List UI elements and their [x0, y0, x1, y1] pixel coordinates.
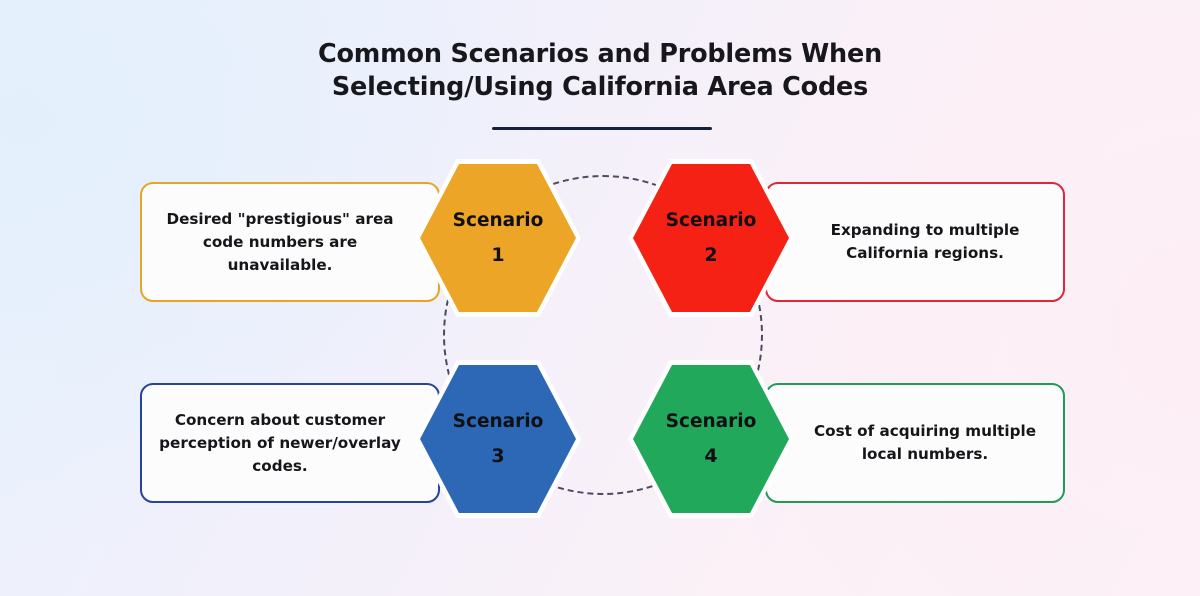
scenario-1-label: Scenario	[453, 210, 544, 232]
scenario-2-label: Scenario	[666, 210, 757, 232]
scenario-4-hexagon[interactable]: Scenario 4	[633, 365, 789, 513]
scenario-4-label: Scenario	[666, 411, 757, 433]
scenario-4-number: 4	[704, 444, 717, 468]
scenario-2-text-box[interactable]: Expanding to multiple California regions…	[765, 182, 1065, 302]
scenario-3-hexagon[interactable]: Scenario 3	[420, 365, 576, 513]
scenario-4-text: Cost of acquiring multiple local numbers…	[767, 420, 1063, 466]
scenario-2-number: 2	[704, 243, 717, 267]
scenario-3-text-box[interactable]: Concern about customer perception of new…	[140, 383, 440, 503]
scenario-2-text: Expanding to multiple California regions…	[767, 219, 1063, 265]
scenario-4-text-box[interactable]: Cost of acquiring multiple local numbers…	[765, 383, 1065, 503]
title-line-1: Common Scenarios and Problems When	[0, 38, 1200, 71]
scenario-2-hexagon[interactable]: Scenario 2	[633, 164, 789, 312]
scenario-1-hexagon[interactable]: Scenario 1	[420, 164, 576, 312]
scenario-3-text: Concern about customer perception of new…	[142, 409, 438, 478]
title-underline-rule	[492, 127, 712, 130]
scenario-3-number: 3	[491, 444, 504, 468]
scenario-3-label: Scenario	[453, 411, 544, 433]
scenario-1-text-box[interactable]: Desired "prestigious" area code numbers …	[140, 182, 440, 302]
page-title: Common Scenarios and Problems When Selec…	[0, 38, 1200, 104]
scenario-1-text: Desired "prestigious" area code numbers …	[142, 208, 438, 277]
infographic-canvas: Common Scenarios and Problems When Selec…	[0, 0, 1200, 596]
title-line-2: Selecting/Using California Area Codes	[0, 71, 1200, 104]
scenario-1-number: 1	[491, 243, 504, 267]
